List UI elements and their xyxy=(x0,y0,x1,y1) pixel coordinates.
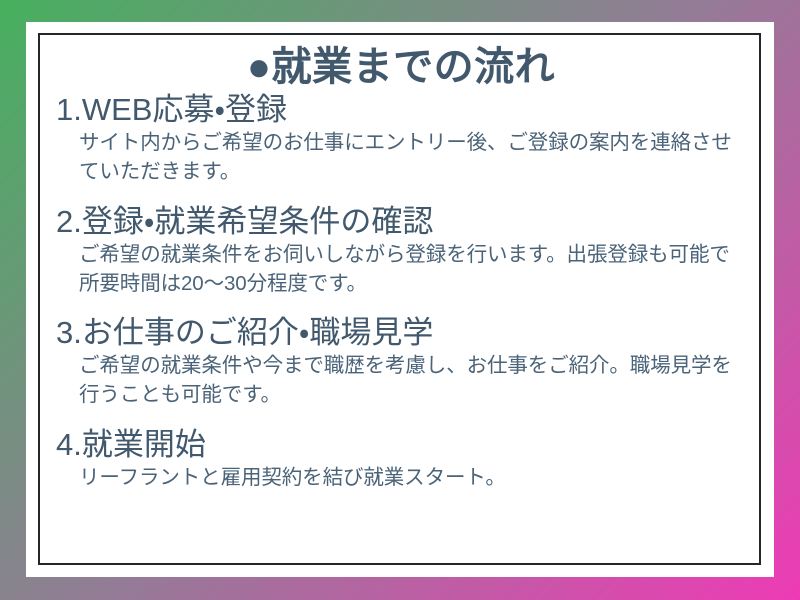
step-body-1: サイト内からご希望のお仕事にエントリー後、ご登録の案内を連絡させていただきます。 xyxy=(79,129,746,186)
step-item-3: 3.お仕事のご紹介・職場見学 ご希望の就業条件や今まで職歴を考慮し、お仕事をご紹… xyxy=(56,315,746,409)
poster-content: ●就業までの流れ 1.WEB応募・登録 サイト内からご希望のお仕事にエントリー後… xyxy=(40,34,762,565)
step-heading-1: 1.WEB応募・登録 xyxy=(56,92,746,129)
poster-root: ●就業までの流れ 1.WEB応募・登録 サイト内からご希望のお仕事にエントリー後… xyxy=(0,0,800,600)
step-heading-2: 2.登録・就業希望条件の確認 xyxy=(56,204,746,241)
step-heading-3: 3.お仕事のご紹介・職場見学 xyxy=(56,315,746,352)
step-item-2: 2.登録・就業希望条件の確認 ご希望の就業条件をお伺いしながら登録を行います。出… xyxy=(56,204,746,298)
page-title: ●就業までの流れ xyxy=(56,46,746,88)
step-item-4: 4.就業開始 リーフラントと雇用契約を結び就業スタート。 xyxy=(56,427,746,492)
step-body-4: リーフラントと雇用契約を結び就業スタート。 xyxy=(79,464,746,493)
step-body-3: ご希望の就業条件や今まで職歴を考慮し、お仕事をご紹介。職場見学を行うことも可能で… xyxy=(79,352,746,409)
step-body-2: ご希望の就業条件をお伺いしながら登録を行います。出張登録も可能で所要時間は20〜… xyxy=(79,241,746,298)
step-heading-4: 4.就業開始 xyxy=(56,427,746,464)
white-card: ●就業までの流れ 1.WEB応募・登録 サイト内からご希望のお仕事にエントリー後… xyxy=(26,22,774,577)
step-item-1: 1.WEB応募・登録 サイト内からご希望のお仕事にエントリー後、ご登録の案内を連… xyxy=(56,92,746,186)
